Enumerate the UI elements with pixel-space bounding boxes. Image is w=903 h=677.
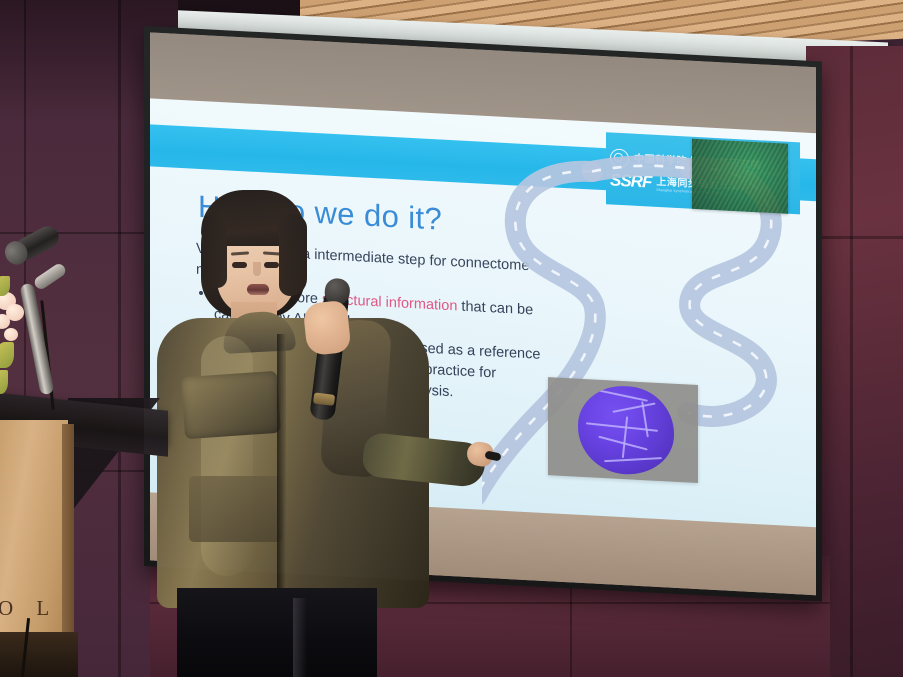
speaker-figure [155, 190, 495, 677]
wall-seam [850, 46, 853, 677]
hand-on-microphone [302, 300, 351, 356]
green-tissue-micrograph [692, 139, 788, 214]
presentation-photo-scene: 中国科学院上海高等研究院 SHANGHAI ADVANCED RESEARCH … [0, 0, 903, 677]
jacket-chest-pocket [181, 371, 281, 440]
wall-seam [118, 0, 121, 677]
lectern-base-shadow [0, 632, 78, 677]
hair-side-left [202, 212, 227, 288]
eye-left [232, 262, 247, 268]
flower-arrangement [0, 270, 38, 400]
mouth [247, 284, 269, 295]
brain-vasculature-scan [548, 377, 698, 483]
jacket-side-pocket [189, 476, 283, 542]
vasculature-blob [578, 384, 674, 477]
jacket-placket [277, 334, 286, 600]
eyebrow-left [231, 251, 249, 255]
nose [253, 262, 261, 276]
skirt-fold [293, 598, 307, 677]
eye-right [264, 262, 279, 268]
microphone-band [313, 392, 335, 405]
skirt [177, 588, 377, 677]
hair-side-right [279, 214, 307, 296]
